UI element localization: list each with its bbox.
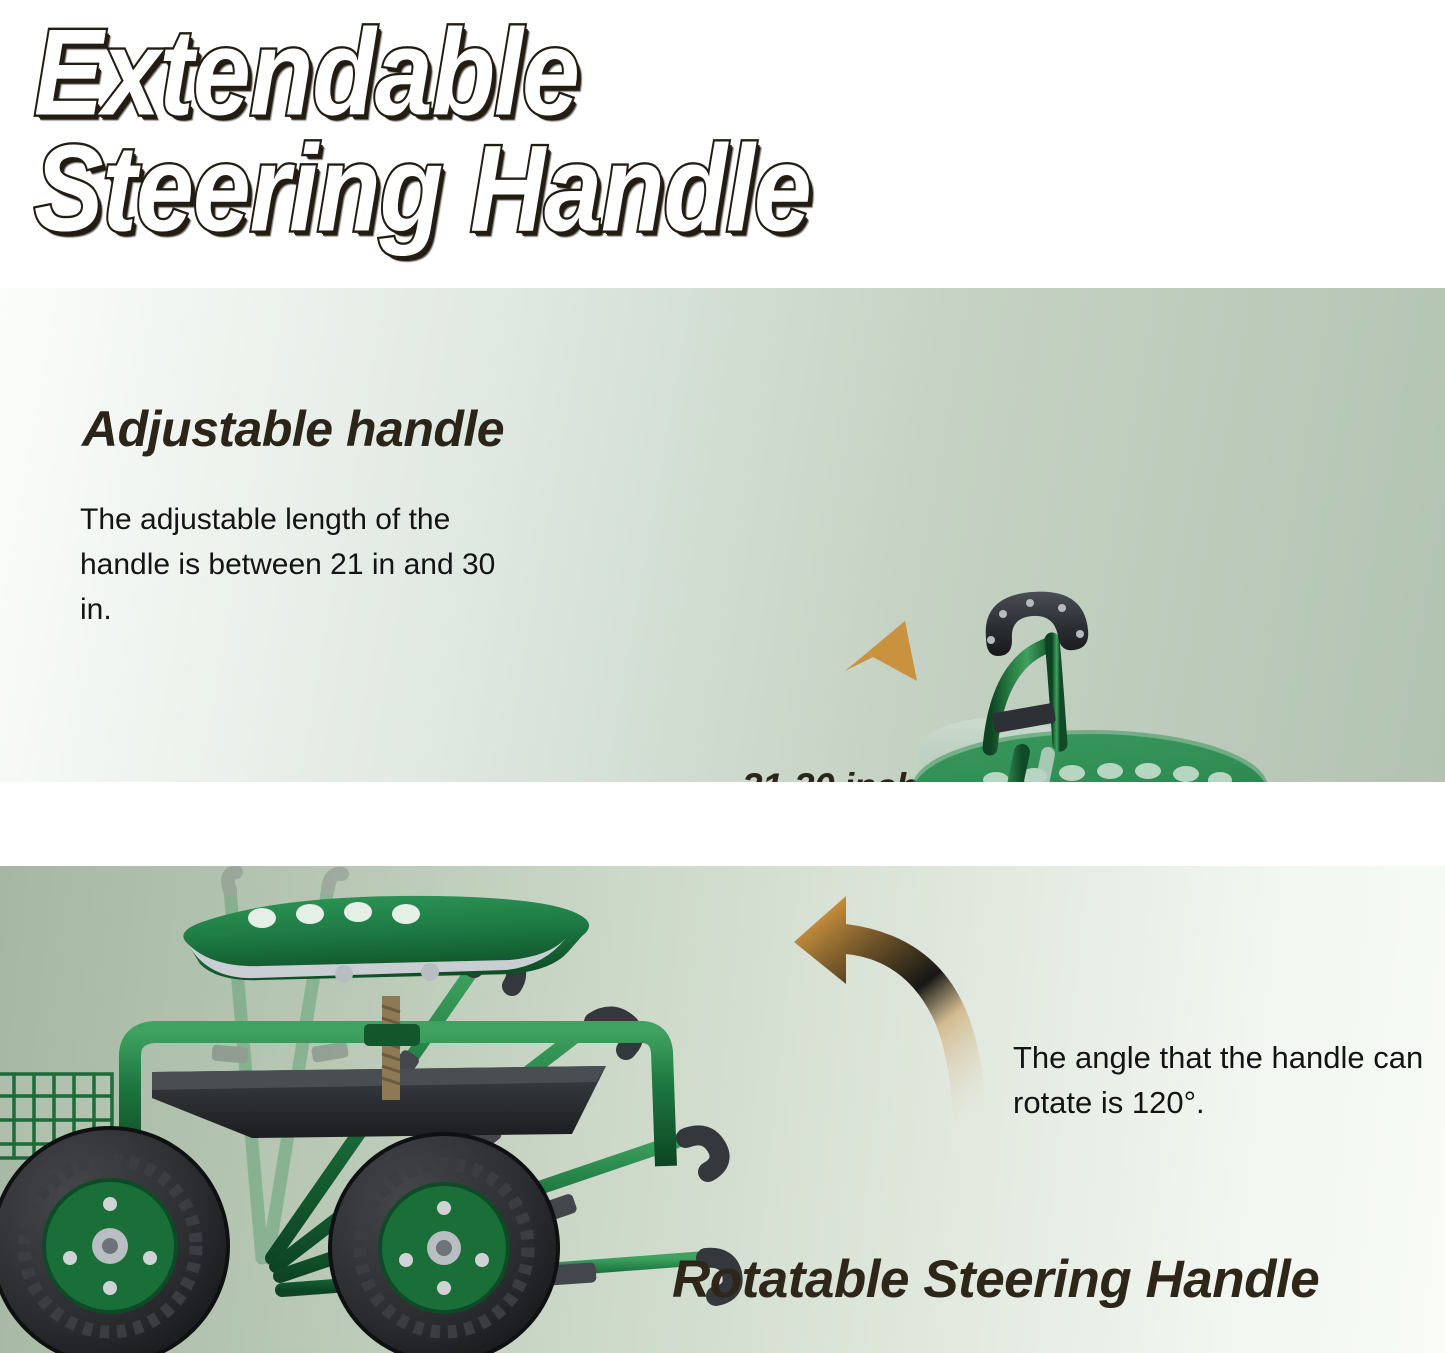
title-line-2: Steering Handle xyxy=(34,128,811,251)
adjustable-handle-heading: Adjustable handle xyxy=(82,400,504,458)
tractor-seat-side xyxy=(183,896,589,983)
wheel-right xyxy=(330,1134,558,1353)
rotatable-handle-heading: Rotatable Steering Handle xyxy=(672,1249,1319,1310)
curved-rotation-arrow-icon xyxy=(780,872,1080,1192)
wheel-left xyxy=(0,1128,228,1353)
panel-adjustable-handle: Adjustable handle The adjustable length … xyxy=(0,288,1445,782)
garden-cart-photo-upper xyxy=(760,576,1445,782)
adjustable-handle-body: The adjustable length of the handle is b… xyxy=(80,497,500,632)
rotatable-handle-body: The angle that the handle can rotate is … xyxy=(1013,1036,1445,1126)
panel-divider-gap xyxy=(0,782,1445,866)
title-line-1: Extendable xyxy=(34,12,579,135)
hero-title-block: Extendable Steering Handle xyxy=(0,0,1445,288)
